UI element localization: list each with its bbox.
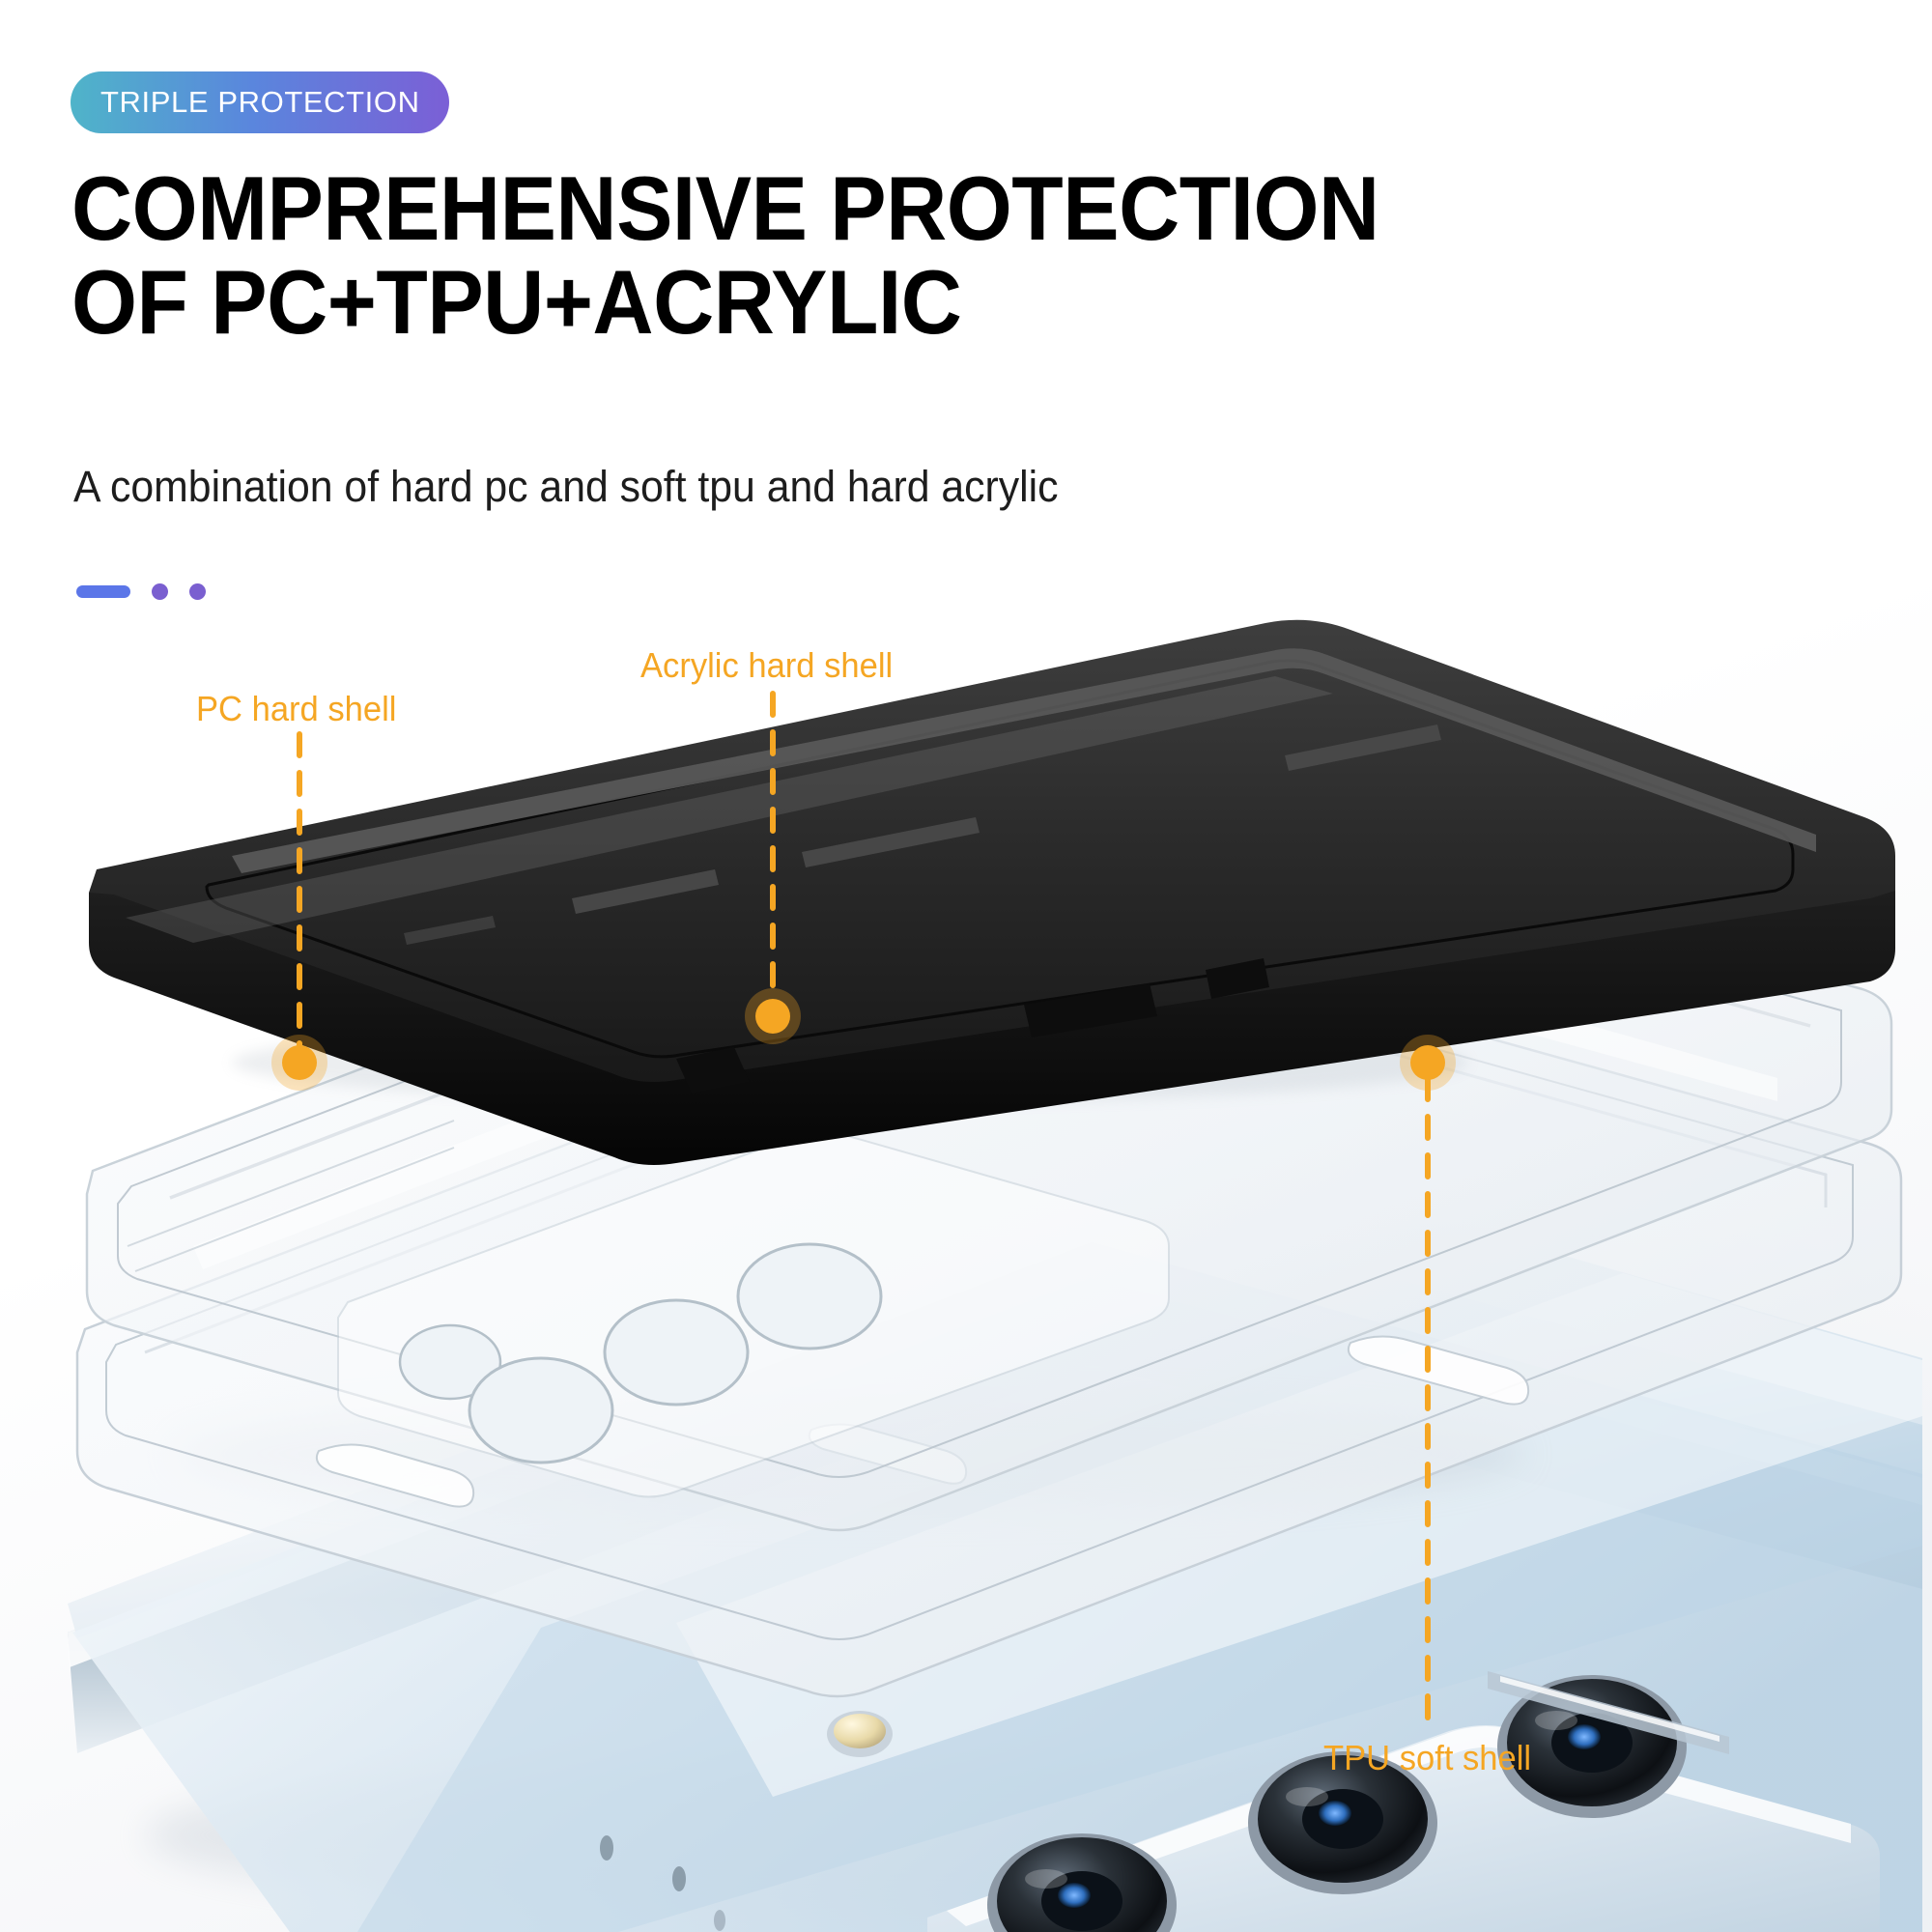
triple-protection-badge: TRIPLE PROTECTION bbox=[71, 71, 449, 133]
headline-line-1: COMPREHENSIVE PROTECTION bbox=[71, 162, 1599, 256]
badge-label: TRIPLE PROTECTION bbox=[100, 85, 420, 120]
page-title: COMPREHENSIVE PROTECTION OF PC+TPU+ACRYL… bbox=[71, 162, 1599, 350]
page-subtitle: A combination of hard pc and soft tpu an… bbox=[73, 462, 1058, 512]
acrylic-callout-marker bbox=[755, 999, 790, 1034]
tpu-soft-shell-callout-label: TPU soft shell bbox=[1323, 1738, 1531, 1778]
camera-flash bbox=[827, 1711, 893, 1757]
camera-window-hole-3 bbox=[738, 1244, 881, 1349]
exploded-case-illustration bbox=[0, 580, 1932, 1932]
acrylic-hard-shell-callout-label: Acrylic hard shell bbox=[640, 645, 893, 686]
product-infographic-page: TRIPLE PROTECTION COMPREHENSIVE PROTECTI… bbox=[0, 0, 1932, 1932]
pc-hard-shell-callout-label: PC hard shell bbox=[196, 689, 396, 729]
tpu-callout-marker bbox=[1410, 1045, 1445, 1080]
pc-callout-marker bbox=[282, 1045, 317, 1080]
camera-window-hole-1 bbox=[469, 1358, 612, 1463]
camera-window-hole-2 bbox=[605, 1300, 748, 1405]
headline-line-2: OF PC+TPU+ACRYLIC bbox=[71, 256, 1599, 350]
